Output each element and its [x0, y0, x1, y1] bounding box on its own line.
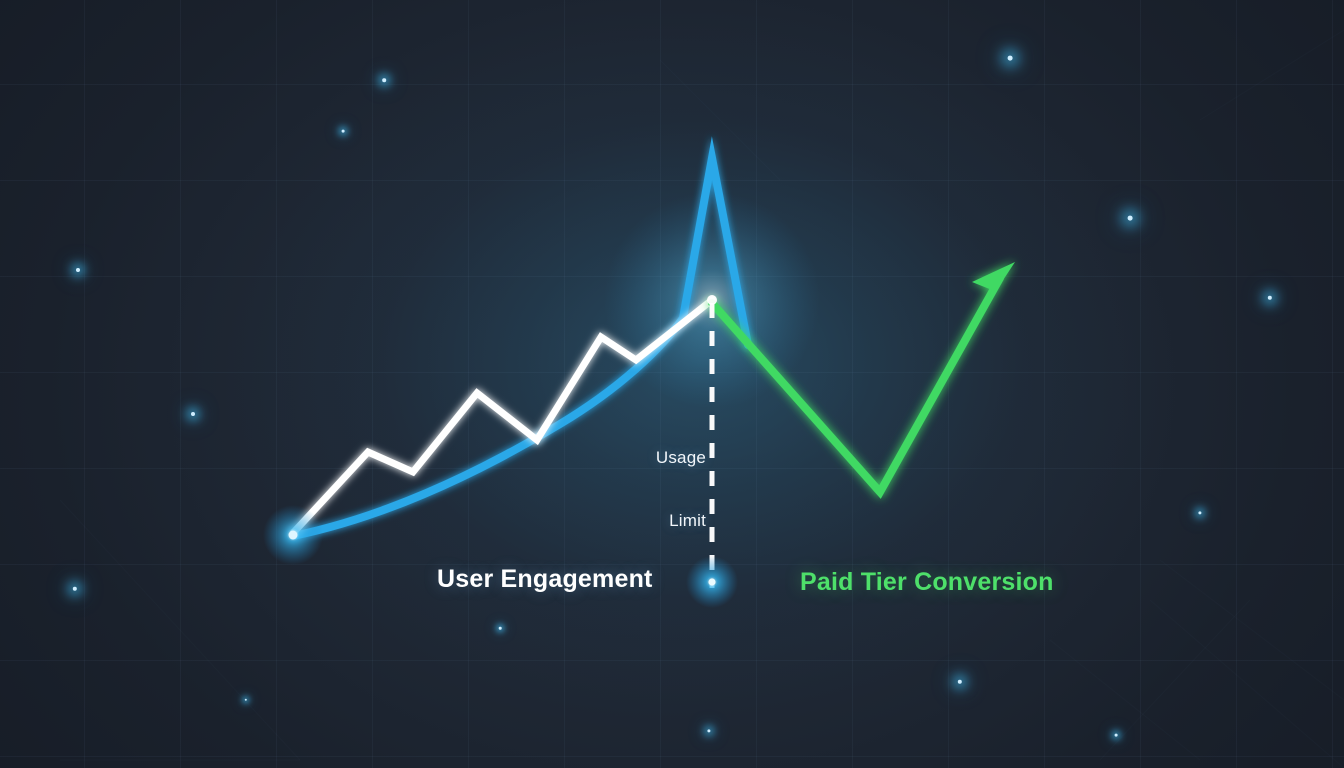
apex-core-dot: [707, 295, 717, 305]
annotation-usage-limit: Usage Limit: [614, 404, 706, 574]
chart-lines: [0, 0, 1344, 768]
annotation-usage-limit-line2: Limit: [614, 510, 706, 531]
legend-label-paid-tier-conversion: Paid Tier Conversion: [800, 568, 1054, 597]
origin-core-dot: [289, 531, 298, 540]
threshold-endpoint-core-dot: [708, 578, 715, 585]
chart-canvas: User Engagement Paid Tier Conversion Usa…: [0, 0, 1344, 768]
annotation-usage-limit-line1: Usage: [614, 447, 706, 468]
